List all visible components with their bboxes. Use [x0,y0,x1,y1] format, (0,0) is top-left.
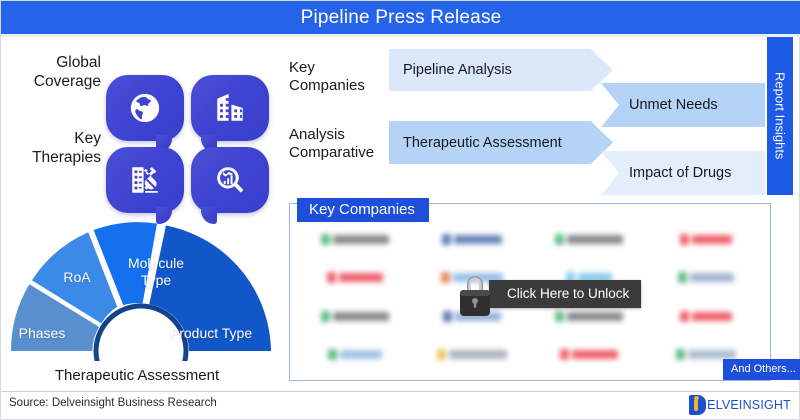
company-logo-blurred [327,272,383,283]
company-logo-wordmark [449,350,507,359]
company-logo-wordmark [688,350,736,359]
company-logo-cell[interactable] [531,337,646,374]
insight-banner-label: Pipeline Analysis [403,62,512,78]
globe-icon [128,91,162,125]
company-logo-cell[interactable] [648,221,763,258]
pillar-bubble-key-companies[interactable] [191,75,269,141]
chart-label-molecule-type: Molecule Type [113,255,199,289]
insight-banner-pipeline-analysis[interactable]: Pipeline Analysis [389,49,613,91]
pillar-label-key-therapies: Key Therapies [5,129,101,167]
pillar-bubble-global-coverage[interactable] [106,75,184,141]
company-logo-mark [442,234,451,245]
company-logo-cell[interactable] [648,298,763,335]
company-logo-blurred [442,234,502,245]
page-title: Pipeline Press Release [301,7,502,29]
company-logo-wordmark [572,350,618,359]
chart-label-product-type: Product Type [153,325,269,342]
insight-banner-therapeutic-assessment[interactable]: Therapeutic Assessment [389,121,613,164]
insight-banner-label: Impact of Drugs [629,165,731,181]
unlock-overlay[interactable]: Click Here to Unlock [453,269,641,319]
chart-label-roa: RoA [47,269,107,286]
company-logo-wordmark [567,235,623,244]
company-logo-cell[interactable] [297,337,412,374]
pillar-label-line1: Analysis [289,126,387,144]
brand-d-icon [689,395,706,415]
company-logo-mark [676,349,685,360]
company-logo-mark [560,349,569,360]
company-logo-blurred [328,349,382,360]
company-logo-cell[interactable] [297,298,412,335]
therapeutic-assessment-chart: Phases RoA Molecule Type Product Type Th… [1,197,289,387]
company-logo-mark [680,311,689,322]
insight-banner-label: Therapeutic Assessment [403,135,562,151]
pillar-label-key-companies: Key Companies [289,59,385,95]
key-companies-title: Key Companies [297,198,429,222]
company-logo-blurred [678,272,734,283]
unlock-tooltip: Click Here to Unlock [489,280,641,308]
page-header: Pipeline Press Release [1,1,800,34]
company-logo-mark [328,349,337,360]
insight-banner-impact-of-drugs[interactable]: Impact of Drugs [601,151,765,195]
company-logo-cell[interactable] [531,221,646,258]
company-logo-wordmark [454,235,502,244]
magnifier-bar-chart-icon [213,163,247,197]
pillars-cluster: Global Coverage Key Therapies [1,37,289,195]
company-logo-wordmark [690,273,734,282]
company-logo-wordmark [692,235,732,244]
company-logo-blurred [321,234,389,245]
company-logo-mark [555,234,564,245]
insight-banner-label: Unmet Needs [629,97,718,113]
company-logo-wordmark [339,273,383,282]
company-logo-mark [437,349,446,360]
company-logo-mark [441,272,450,283]
company-logo-mark [321,311,330,322]
company-logo-cell[interactable] [297,221,412,258]
lock-icon [453,269,497,319]
company-logo-blurred [555,234,623,245]
company-logo-cell[interactable] [414,221,529,258]
source-note: Source: Delveinsight Business Research [9,397,217,409]
company-logo-wordmark [692,312,732,321]
pillar-label-line2: Therapies [5,148,101,167]
company-logo-wordmark [333,235,389,244]
company-logo-blurred [680,311,732,322]
pillar-label-line2: Coverage [5,72,101,91]
chart-caption: Therapeutic Assessment [1,367,273,384]
company-logo-mark [321,234,330,245]
microscope-checklist-icon [128,163,162,197]
pillar-label-line1: Key [5,129,101,148]
company-logo-blurred [680,234,732,245]
brand-name: ELVEINSIGHT [707,398,791,412]
company-logo-blurred [560,349,618,360]
pillar-label-line1: Global [5,53,101,72]
company-logo-mark [443,311,452,322]
company-logo-cell[interactable] [648,260,763,297]
report-insights-label: Report Insights [773,72,788,159]
pillar-label-line2: Companies [289,77,385,95]
company-logo-blurred [321,311,389,322]
company-logo-mark [680,234,689,245]
report-insights-sidebar-tab[interactable]: Report Insights [767,37,793,195]
and-others-badge[interactable]: And Others... [723,359,800,380]
company-logo-wordmark [333,312,389,321]
chart-label-phases: Phases [9,325,75,342]
pillar-label-analysis-comparative: Analysis Comparative [289,126,387,162]
footer-divider [1,391,800,392]
company-logo-cell[interactable] [414,337,529,374]
company-logo-blurred [437,349,507,360]
company-logo-wordmark [340,350,382,359]
buildings-icon [213,91,247,125]
delveinsight-logo: ELVEINSIGHT [689,395,791,415]
pillar-label-line1: Key [289,59,385,77]
insight-banner-unmet-needs[interactable]: Unmet Needs [601,83,765,127]
company-logo-mark [327,272,336,283]
pillar-label-global-coverage: Global Coverage [5,53,101,91]
pillar-label-line2: Comparative [289,144,387,162]
pipeline-press-release-infographic: Pipeline Press Release Global Coverage K… [0,0,800,420]
company-logo-mark [678,272,687,283]
company-logo-cell[interactable] [297,260,412,297]
